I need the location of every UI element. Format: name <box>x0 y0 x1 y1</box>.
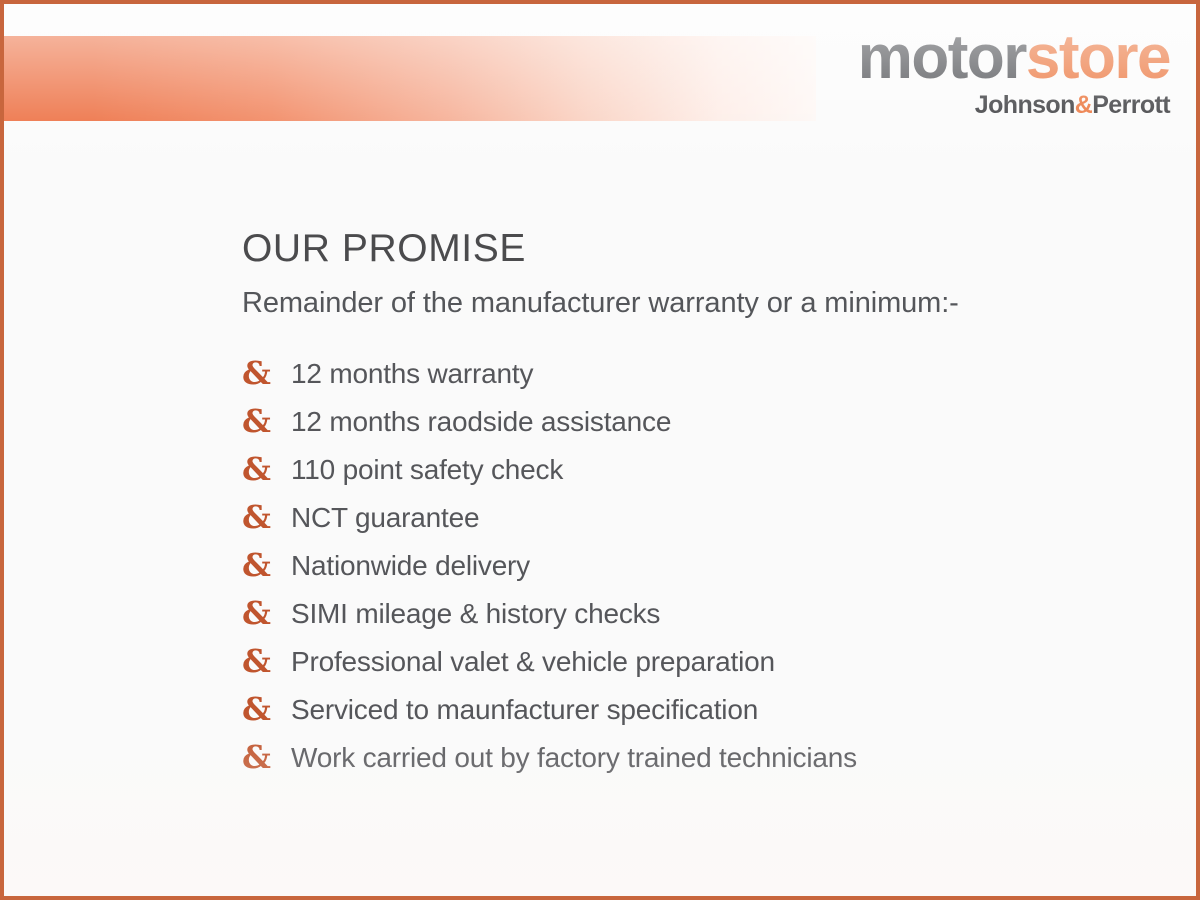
list-item-label: 12 months warranty <box>291 358 533 390</box>
list-item: &110 point safety check <box>242 446 1136 494</box>
list-item-label: Nationwide delivery <box>291 550 530 582</box>
motorstore-logo: motorstore Johnson&Perrott <box>858 28 1170 118</box>
list-item-label: Serviced to maunfacturer specification <box>291 694 758 726</box>
slide-body: OUR PROMISE Remainder of the manufacture… <box>242 228 1136 782</box>
promise-slide: motorstore Johnson&Perrott OUR PROMISE R… <box>0 0 1200 900</box>
logo-word-motor: motor <box>858 23 1026 92</box>
ampersand-bullet-icon: & <box>242 405 291 437</box>
list-item-label: SIMI mileage & history checks <box>291 598 660 630</box>
slide-header: motorstore Johnson&Perrott <box>4 4 1196 130</box>
logo-subtitle: Johnson&Perrott <box>858 93 1170 118</box>
logo-subtitle-johnson: Johnson <box>975 91 1075 119</box>
list-item: &Professional valet & vehicle preparatio… <box>242 638 1136 686</box>
logo-subtitle-perrott: Perrott <box>1092 91 1170 119</box>
ampersand-bullet-icon: & <box>242 693 291 725</box>
ampersand-bullet-icon: & <box>242 453 291 485</box>
list-item-label: NCT guarantee <box>291 502 479 534</box>
list-item: &NCT guarantee <box>242 494 1136 542</box>
list-item: &Nationwide delivery <box>242 542 1136 590</box>
list-item: &12 months raodside assistance <box>242 398 1136 446</box>
ampersand-bullet-icon: & <box>242 597 291 629</box>
ampersand-bullet-icon: & <box>242 549 291 581</box>
page-subtitle: Remainder of the manufacturer warranty o… <box>242 287 1136 320</box>
logo-word-store: store <box>1026 23 1170 92</box>
list-item-label: Professional valet & vehicle preparation <box>291 646 775 678</box>
list-item: &12 months warranty <box>242 350 1136 398</box>
list-item: &Serviced to maunfacturer specification <box>242 686 1136 734</box>
list-item-label: 12 months raodside assistance <box>291 406 671 438</box>
brand-gradient-band <box>4 36 816 121</box>
list-item-label: Work carried out by factory trained tech… <box>291 742 857 774</box>
ampersand-bullet-icon: & <box>242 357 291 389</box>
list-item-label: 110 point safety check <box>291 454 563 486</box>
logo-wordmark: motorstore <box>858 28 1170 89</box>
ampersand-bullet-icon: & <box>242 741 291 773</box>
promise-list: &12 months warranty&12 months raodside a… <box>242 350 1136 782</box>
page-title: OUR PROMISE <box>242 228 1136 271</box>
ampersand-bullet-icon: & <box>242 645 291 677</box>
ampersand-icon: & <box>1075 91 1092 119</box>
list-item: &SIMI mileage & history checks <box>242 590 1136 638</box>
list-item: &Work carried out by factory trained tec… <box>242 734 1136 782</box>
ampersand-bullet-icon: & <box>242 501 291 533</box>
